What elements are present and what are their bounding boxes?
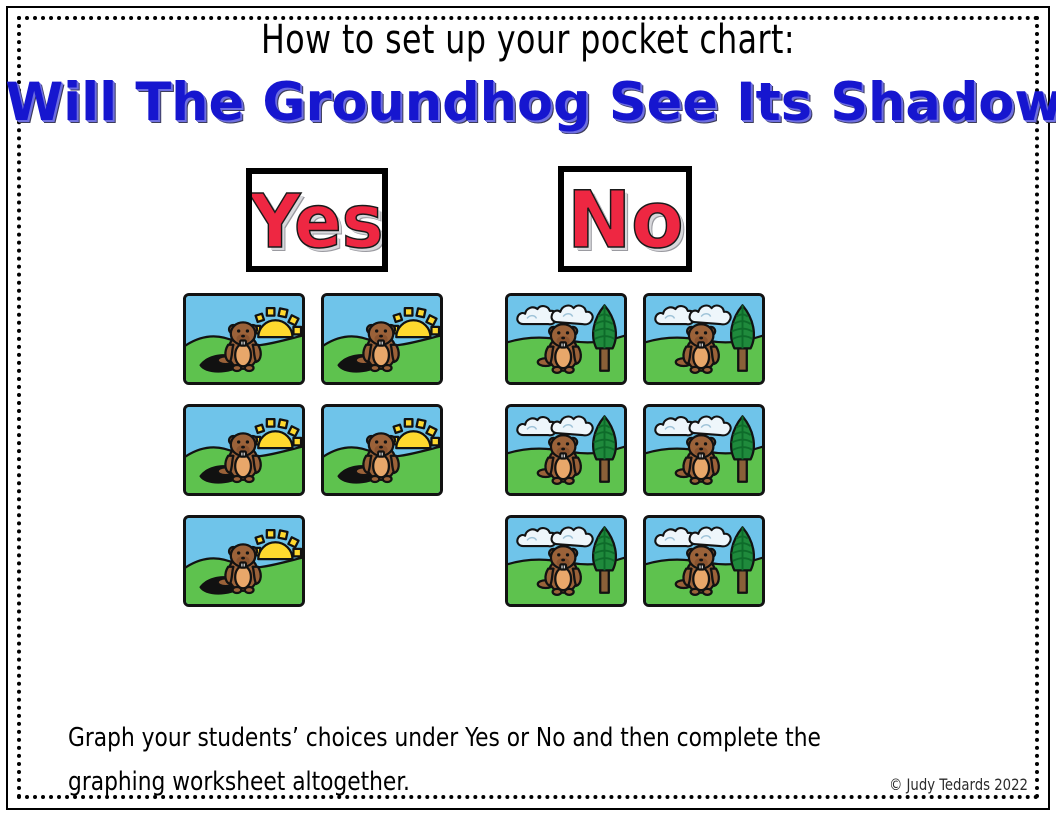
picture-card-no[interactable] <box>643 293 765 385</box>
picture-card-yes[interactable] <box>321 293 443 385</box>
answer-label-no: No <box>567 182 683 260</box>
picture-card-yes[interactable] <box>183 404 305 496</box>
card-grid-no <box>505 293 765 607</box>
answer-label-yes: Yes <box>250 185 384 259</box>
copyright-text: © Judy Tedards 2022 <box>889 775 1028 795</box>
picture-card-yes[interactable] <box>321 404 443 496</box>
card-grid-yes <box>183 293 443 607</box>
picture-card-yes[interactable] <box>183 515 305 607</box>
page-title: Will The Groundhog See Its Shadow? <box>5 70 1050 136</box>
instruction-text: Graph your students’ choices under Yes o… <box>68 716 905 804</box>
picture-card-no[interactable] <box>643 515 765 607</box>
picture-card-yes[interactable] <box>183 293 305 385</box>
answer-card-yes[interactable]: Yes <box>246 168 388 272</box>
picture-card-no[interactable] <box>643 404 765 496</box>
page-subtitle: How to set up your pocket chart: <box>63 14 992 66</box>
picture-card-no[interactable] <box>505 293 627 385</box>
picture-card-no[interactable] <box>505 404 627 496</box>
worksheet-page: How to set up your pocket chart: Will Th… <box>0 0 1056 816</box>
picture-card-no[interactable] <box>505 515 627 607</box>
answer-card-no[interactable]: No <box>558 166 692 272</box>
heading-block: How to set up your pocket chart: Will Th… <box>0 14 1056 136</box>
